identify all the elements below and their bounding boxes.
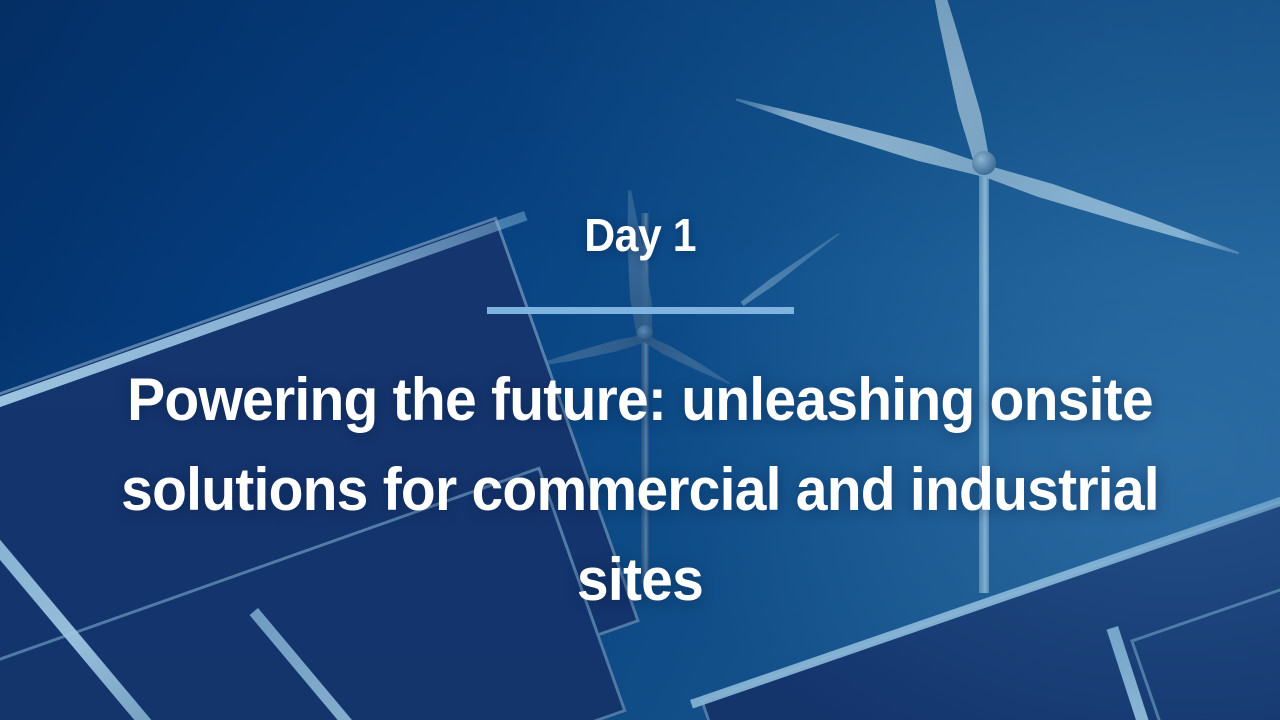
slide-content: Day 1 Powering the future: unleashing on…	[0, 0, 1280, 720]
title-divider	[487, 307, 794, 314]
slide-title: Powering the future: unleashing onsite s…	[113, 355, 1168, 625]
title-slide: Day 1 Powering the future: unleashing on…	[0, 0, 1280, 720]
day-label: Day 1	[584, 212, 696, 258]
